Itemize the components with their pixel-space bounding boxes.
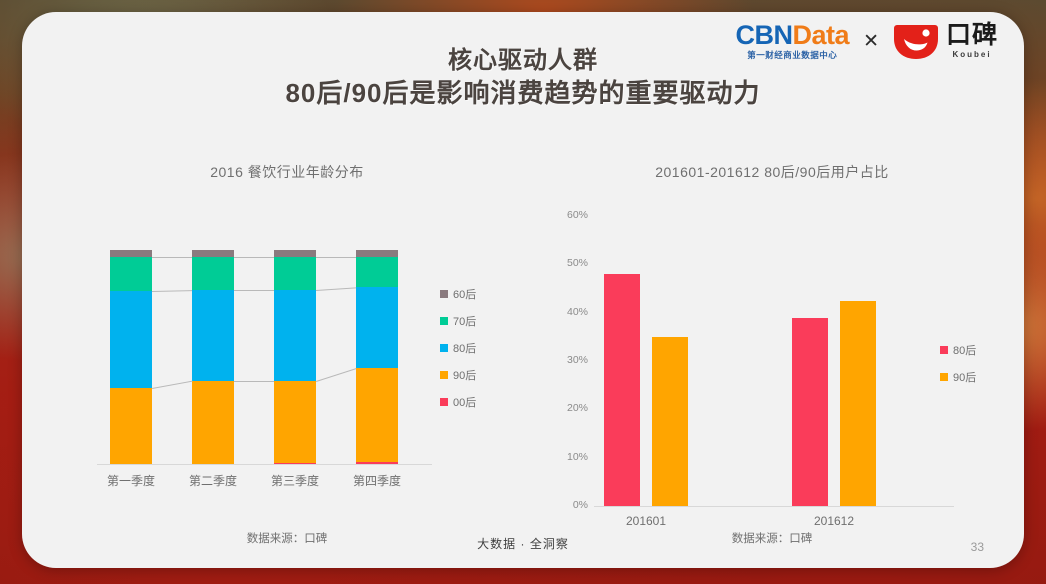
legend-swatch-70后 <box>440 317 448 325</box>
bar-segment-70后 <box>356 257 398 287</box>
y-axis-tick-label: 60% <box>542 209 588 221</box>
chart-legend-age: 60后70后80后90后00后 <box>440 286 476 410</box>
bar-segment-00后 <box>356 462 398 464</box>
y-axis-tick-label: 50% <box>542 257 588 269</box>
bar-80后-201612 <box>792 318 828 507</box>
title-line-1: 核心驱动人群 <box>22 46 1024 77</box>
bar-segment-60后 <box>110 250 152 257</box>
connector-line-60hou <box>152 257 192 258</box>
legend-swatch-90后 <box>940 373 948 381</box>
bar-segment-00后 <box>274 463 316 464</box>
slide-card: CBNData 第一财经商业数据中心 ✕ 口碑 Koubei 核心驱动人群 8 <box>22 12 1024 568</box>
x-axis-line <box>594 506 954 507</box>
legend-label-00后: 00后 <box>453 394 476 410</box>
x-axis-label: 第四季度 <box>342 472 412 489</box>
chart-panel-share: 201601-201612 80后/90后用户占比 0%10%20%30%40%… <box>542 162 1002 494</box>
x-axis-label: 第二季度 <box>178 472 248 489</box>
koubei-name-cn: 口碑 <box>946 23 998 48</box>
bar-segment-90后 <box>356 368 398 462</box>
legend-label-80后: 80后 <box>453 340 476 356</box>
connector-line-60hou <box>234 257 274 258</box>
bar-90后-201601 <box>652 337 688 506</box>
bar-segment-80后 <box>192 290 234 381</box>
legend-label-70后: 70后 <box>453 313 476 329</box>
y-axis-tick-label: 10% <box>542 451 588 463</box>
bar-segment-80后 <box>110 291 152 388</box>
page-title: 核心驱动人群 80后/90后是影响消费趋势的重要驱动力 <box>22 46 1024 110</box>
stacked-bar <box>110 250 152 464</box>
x-axis-label: 第三季度 <box>260 472 330 489</box>
legend-label-80后: 80后 <box>953 342 976 358</box>
legend-swatch-60后 <box>440 290 448 298</box>
bar-segment-60后 <box>274 250 316 257</box>
y-axis-tick-label: 40% <box>542 306 588 318</box>
legend-item-80后: 80后 <box>440 340 476 356</box>
y-axis-tick-label: 30% <box>542 354 588 366</box>
legend-label-90后: 90后 <box>953 369 976 385</box>
bar-segment-80后 <box>356 287 398 367</box>
legend-item-80后: 80后 <box>940 342 976 358</box>
legend-swatch-80后 <box>940 346 948 354</box>
bar-segment-90后 <box>192 381 234 464</box>
chart-panel-age-distribution: 2016 餐饮行业年龄分布 第一季度第二季度第三季度第四季度60后70后80后9… <box>52 162 522 494</box>
bar-segment-80后 <box>274 290 316 381</box>
chart-title-share: 201601-201612 80后/90后用户占比 <box>542 162 1002 182</box>
legend-item-90后: 90后 <box>440 367 476 383</box>
connector-line-80hou <box>316 287 356 291</box>
legend-label-60后: 60后 <box>453 286 476 302</box>
bar-segment-70后 <box>274 257 316 290</box>
legend-item-60后: 60后 <box>440 286 476 302</box>
legend-swatch-80后 <box>440 344 448 352</box>
chart-title-age-distribution: 2016 餐饮行业年龄分布 <box>52 162 522 182</box>
plot-area-age-distribution: 第一季度第二季度第三季度第四季度60后70后80后90后00后 <box>52 194 522 494</box>
x-axis-label: 201601 <box>588 514 704 528</box>
bar-segment-90后 <box>110 388 152 464</box>
footer-tagline: 大数据 · 全洞察 <box>22 535 1024 552</box>
bar-segment-60后 <box>192 250 234 257</box>
x-axis-line <box>97 464 432 465</box>
legend-label-90后: 90后 <box>453 367 476 383</box>
connector-line-90hou <box>234 381 274 382</box>
legend-swatch-90后 <box>440 371 448 379</box>
bar-segment-90后 <box>274 381 316 464</box>
x-axis-label: 第一季度 <box>96 472 166 489</box>
connector-line-90hou <box>316 368 356 382</box>
stacked-bar <box>356 250 398 464</box>
x-axis-label: 201612 <box>776 514 892 528</box>
connector-line-90hou <box>152 381 192 389</box>
connector-line-60hou <box>316 257 356 258</box>
bar-90后-201612 <box>840 301 876 506</box>
legend-item-70后: 70后 <box>440 313 476 329</box>
bar-80后-201601 <box>604 274 640 506</box>
bar-segment-70后 <box>192 257 234 290</box>
plot-area-share: 0%10%20%30%40%50%60%20160120161280后90后 <box>542 194 1002 494</box>
y-axis-tick-label: 20% <box>542 402 588 414</box>
page-number: 33 <box>971 540 984 554</box>
slide-stage: CBNData 第一财经商业数据中心 ✕ 口碑 Koubei 核心驱动人群 8 <box>0 0 1046 584</box>
title-line-2: 80后/90后是影响消费趋势的重要驱动力 <box>22 77 1024 110</box>
stacked-bar <box>192 250 234 464</box>
legend-item-90后: 90后 <box>940 369 976 385</box>
chart-legend-share: 80后90后 <box>940 342 976 385</box>
connector-line-80hou <box>234 290 274 291</box>
bar-segment-60后 <box>356 250 398 257</box>
stacked-bar <box>274 250 316 464</box>
bar-segment-70后 <box>110 257 152 290</box>
legend-item-00后: 00后 <box>440 394 476 410</box>
y-axis-tick-label: 0% <box>542 499 588 511</box>
legend-swatch-00后 <box>440 398 448 406</box>
connector-line-80hou <box>152 290 192 292</box>
